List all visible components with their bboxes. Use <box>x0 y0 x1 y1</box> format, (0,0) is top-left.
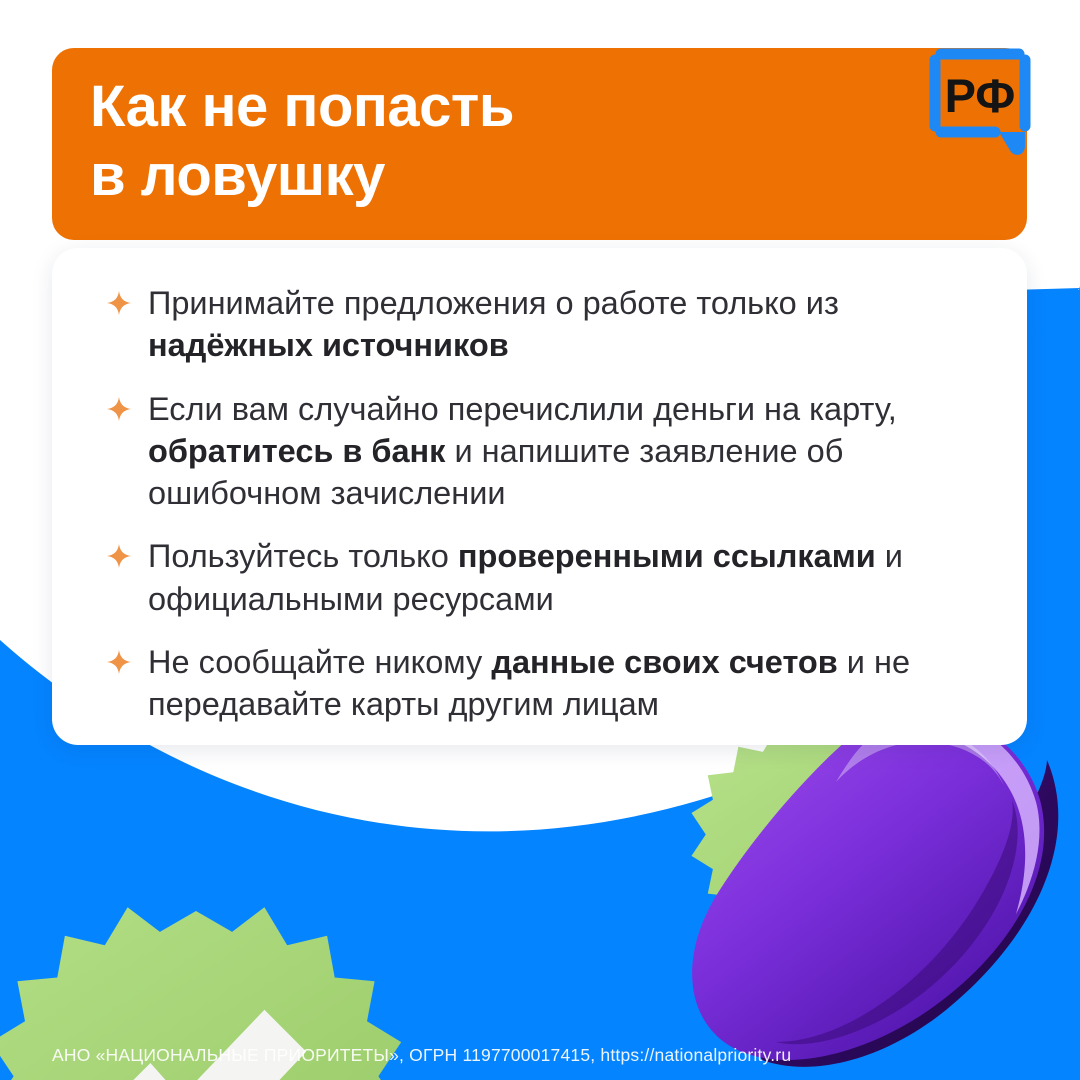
tip-item: Не сообщайте никому данные своих счетов … <box>102 641 992 726</box>
tip-item: Если вам случайно перечислили деньги на … <box>102 388 992 515</box>
rf-speech-bubble-icon: РФ <box>925 42 1035 164</box>
footer-legal-text: АНО «НАЦИОНАЛЬНЫЕ ПРИОРИТЕТЫ», ОГРН 1197… <box>52 1045 791 1066</box>
tips-card: Принимайте предложения о работе только и… <box>52 248 1027 745</box>
rf-logo[interactable]: РФ <box>925 42 1035 164</box>
tip-item-text: Если вам случайно перечислили деньги на … <box>148 391 897 512</box>
header-card: Как не попасть в ловушку <box>52 48 1027 240</box>
infographic-poster: Как не попасть в ловушку РФ Принимайте п… <box>0 0 1080 1080</box>
rf-logo-text: РФ <box>945 69 1016 122</box>
diamond-bullet-icon <box>107 544 131 568</box>
diamond-bullet-icon <box>107 397 131 421</box>
tip-item: Принимайте предложения о работе только и… <box>102 282 992 367</box>
tip-item-text: Пользуйтесь только проверенными ссылками… <box>148 538 903 616</box>
diamond-bullet-icon <box>107 650 131 674</box>
page-title: Как не попасть в ловушку <box>90 72 730 210</box>
tips-list: Принимайте предложения о работе только и… <box>102 282 992 725</box>
diamond-bullet-icon <box>107 291 131 315</box>
tip-item-text: Принимайте предложения о работе только и… <box>148 285 839 363</box>
tip-item-text: Не сообщайте никому данные своих счетов … <box>148 644 910 722</box>
tip-item: Пользуйтесь только проверенными ссылками… <box>102 535 992 620</box>
